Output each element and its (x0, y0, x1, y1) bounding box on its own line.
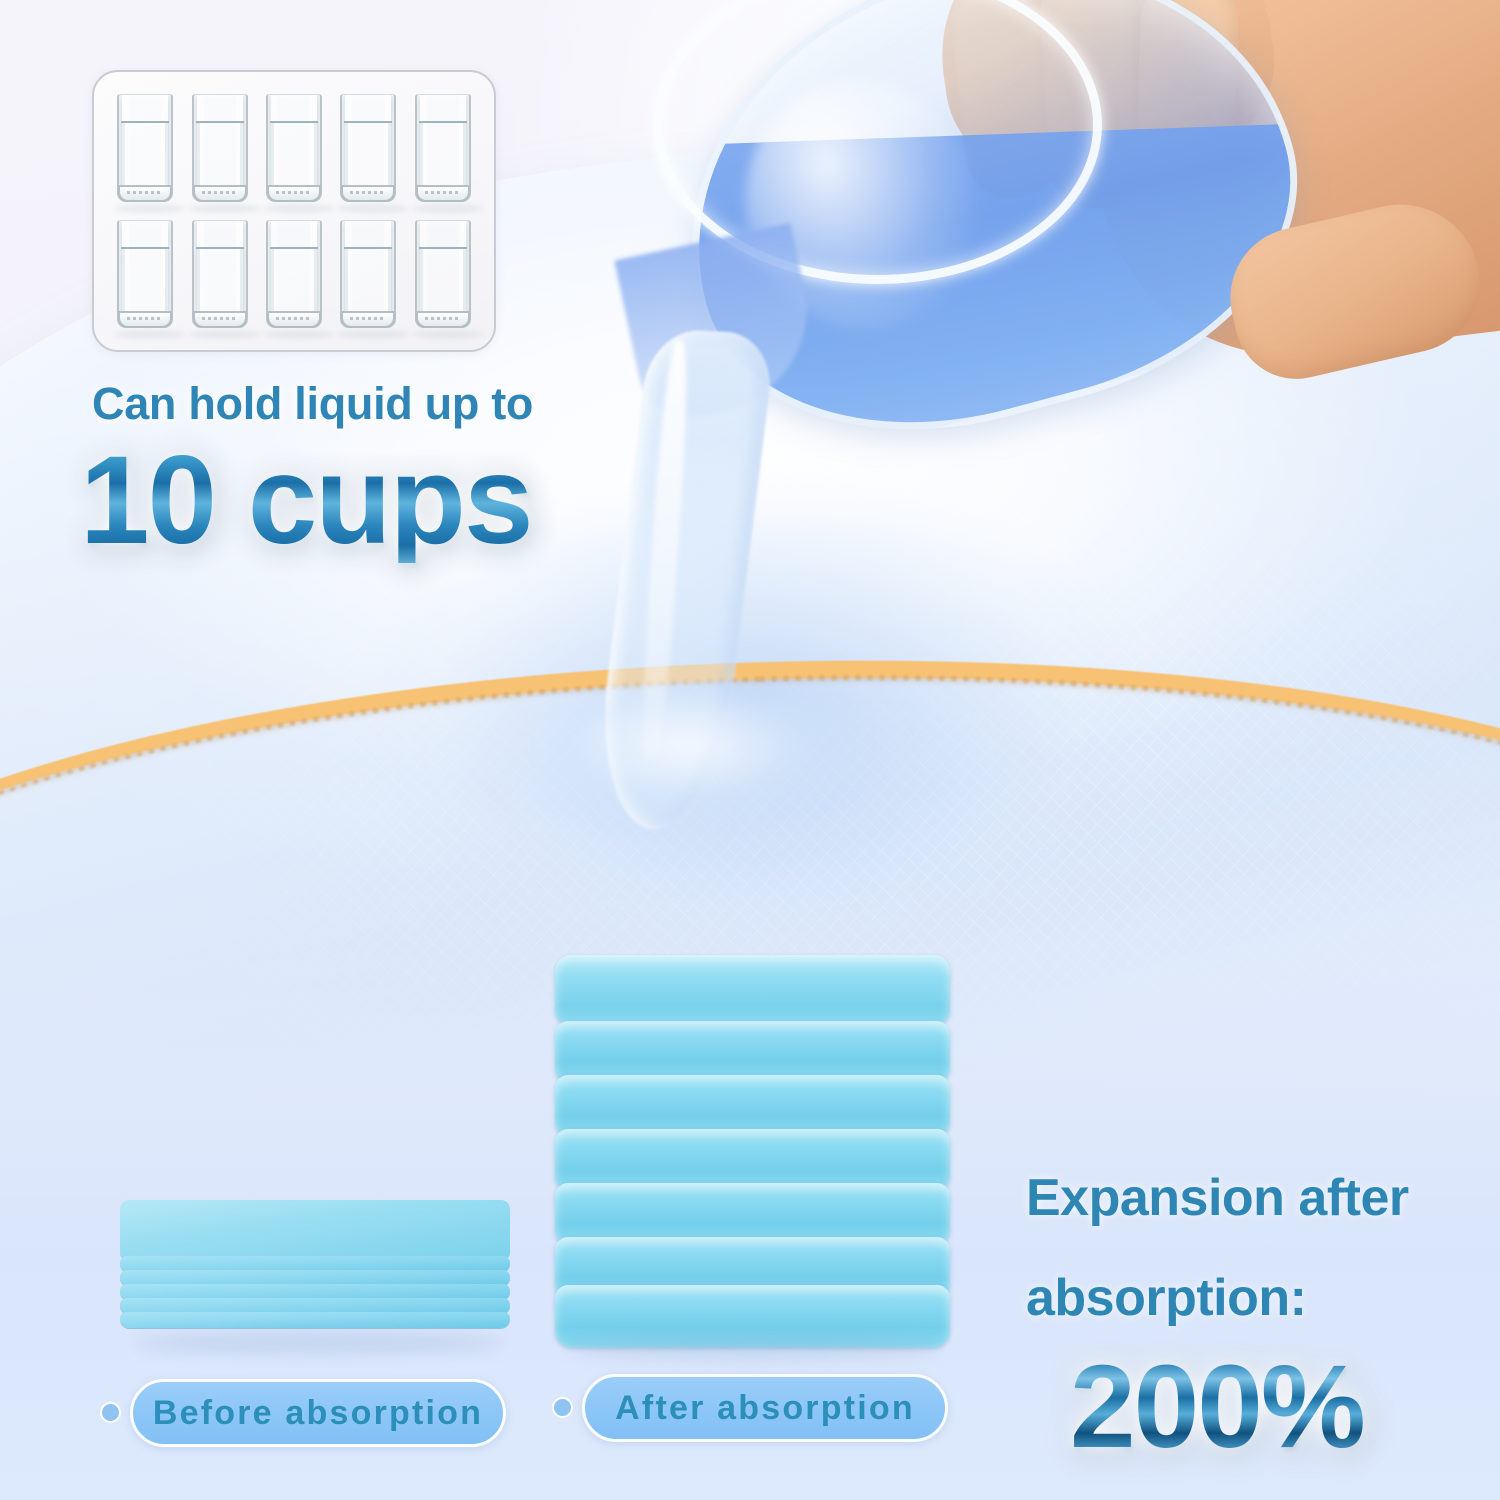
hand-pouring-glass (640, 0, 1500, 520)
pad-roll (555, 1129, 950, 1189)
water-glass-5 (408, 86, 478, 210)
water-splash (540, 700, 870, 830)
water-glass-1 (110, 86, 180, 210)
pad-roll (555, 1183, 950, 1243)
pad-stack-after-absorption (555, 955, 950, 1345)
pad-sheet (120, 1298, 510, 1313)
water-glass-9 (333, 212, 403, 336)
water-glass-10 (408, 212, 478, 336)
stack-shadow (134, 1332, 504, 1354)
infographic-canvas: Can hold liquid up to 10 cups (0, 0, 1500, 1500)
water-glass-3 (259, 86, 329, 210)
water-glass-8 (259, 212, 329, 336)
top-section: Can hold liquid up to 10 cups (0, 0, 1500, 1100)
headline-capacity-value: 10 cups (80, 438, 532, 563)
pad-sheet (120, 1256, 510, 1271)
pad-roll (555, 1075, 950, 1135)
water-glasses-grid (110, 86, 478, 336)
expansion-percentage-value: 200% (1070, 1348, 1364, 1466)
pad-sheet (120, 1200, 510, 1258)
headline-subtitle: Can hold liquid up to (92, 378, 533, 430)
pad-stack-before-absorption (120, 1200, 510, 1340)
water-glasses-tray (92, 70, 496, 352)
expansion-label-line1: Expansion after (1026, 1168, 1409, 1228)
pad-sheet (120, 1284, 510, 1299)
water-glass-6 (110, 212, 180, 336)
pad-sheet (120, 1270, 510, 1285)
pad-sheet (120, 1312, 510, 1328)
stack-shadow (569, 1337, 939, 1359)
expansion-label-line2: absorption: (1026, 1268, 1306, 1328)
pad-roll (555, 955, 950, 1023)
bullet-dot-after (552, 1397, 573, 1418)
badge-before-absorption: Before absorption (130, 1379, 506, 1447)
water-glass-4 (333, 86, 403, 210)
badge-after-absorption: After absorption (582, 1374, 948, 1442)
pad-roll (555, 1021, 950, 1081)
water-glass-7 (184, 212, 254, 336)
bullet-dot-before (100, 1402, 121, 1423)
water-glass-2 (184, 86, 254, 210)
